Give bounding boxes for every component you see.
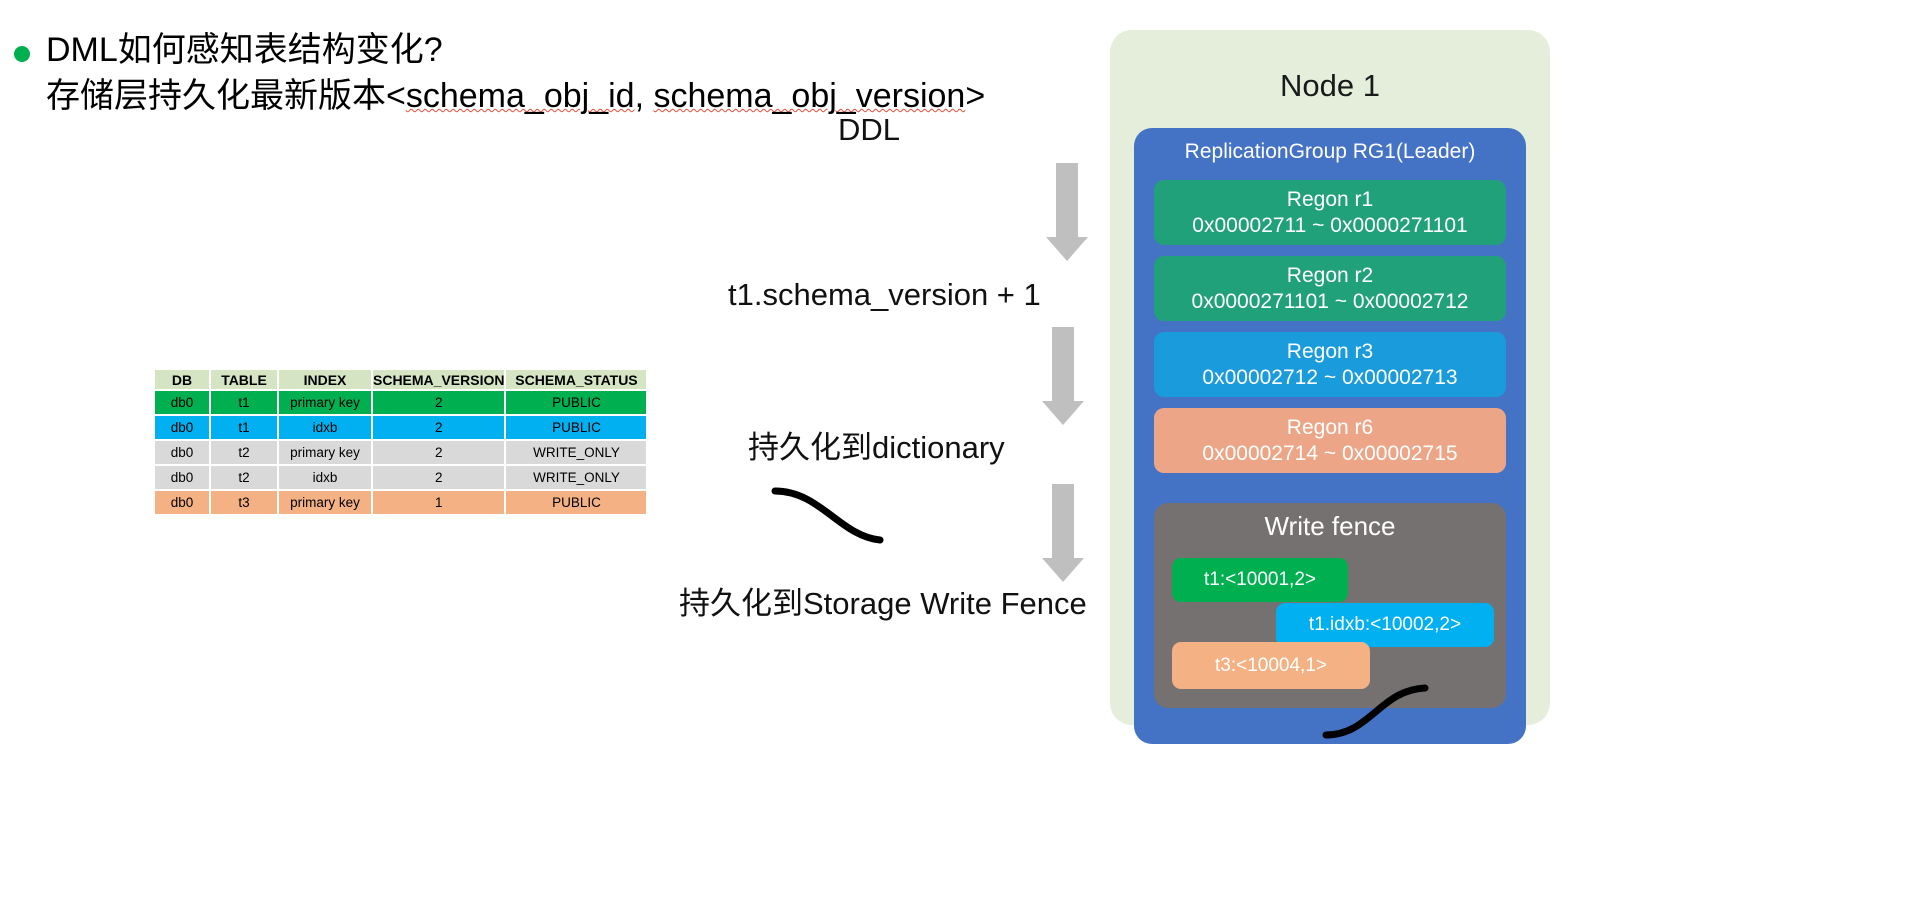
write-fence-entry-t3: t3:<10004,1>	[1172, 642, 1370, 689]
region-box-r2: Regon r2 0x0000271101 ~ 0x00002712	[1154, 256, 1506, 321]
table-row: db0 t1 primary key 2 PUBLIC	[155, 391, 646, 414]
cell-schema-version: 1	[373, 491, 504, 514]
region-range: 0x00002712 ~ 0x00002713	[1154, 365, 1506, 391]
region-name: Regon r6	[1154, 415, 1506, 441]
column-header-index: INDEX	[279, 370, 371, 389]
region-box-r3: Regon r3 0x00002712 ~ 0x00002713	[1154, 332, 1506, 397]
write-fence-entry-t1-idxb: t1.idxb:<10002,2>	[1276, 603, 1494, 647]
cell-db: db0	[155, 416, 209, 439]
bullet-line-2-mid: ,	[635, 77, 654, 115]
cell-db: db0	[155, 391, 209, 414]
bullet-dot-icon	[14, 46, 30, 62]
node-title: Node 1	[1110, 68, 1550, 104]
region-box-r6: Regon r6 0x00002714 ~ 0x00002715	[1154, 408, 1506, 473]
bullet-text: DML如何感知表结构变化? 存储层持久化最新版本<schema_obj_id, …	[46, 28, 985, 120]
column-header-table: TABLE	[211, 370, 277, 389]
flow-arrow-3	[1033, 484, 1093, 582]
cell-schema-status: PUBLIC	[506, 416, 646, 439]
write-fence-entry-t1: t1:<10001,2>	[1172, 558, 1348, 602]
region-name: Regon r3	[1154, 339, 1506, 365]
write-fence-box: Write fence t1:<10001,2> t1.idxb:<10002,…	[1154, 503, 1506, 708]
region-name: Regon r2	[1154, 263, 1506, 289]
bullet-line-2-prefix: 存储层持久化最新版本<	[46, 77, 406, 115]
region-range: 0x00002714 ~ 0x00002715	[1154, 441, 1506, 467]
cell-db: db0	[155, 491, 209, 514]
bullet-row: DML如何感知表结构变化? 存储层持久化最新版本<schema_obj_id, …	[14, 28, 1084, 120]
region-range: 0x00002711 ~ 0x0000271101	[1154, 213, 1506, 239]
cell-schema-status: PUBLIC	[506, 391, 646, 414]
region-box-r1: Regon r1 0x00002711 ~ 0x0000271101	[1154, 180, 1506, 245]
region-name: Regon r1	[1154, 187, 1506, 213]
column-header-schema-version: SCHEMA_VERSION	[373, 370, 504, 389]
spellcheck-term-schema-obj-version: schema_obj_version	[653, 77, 965, 115]
cell-db: db0	[155, 441, 209, 464]
spellcheck-term-schema-obj-id: schema_obj_id	[406, 77, 635, 115]
node-panel: Node 1 ReplicationGroup RG1(Leader) Rego…	[1110, 30, 1550, 725]
flow-label-ddl: DDL	[838, 112, 900, 148]
table-row: db0 t2 primary key 2 WRITE_ONLY	[155, 441, 646, 464]
replication-group-box: ReplicationGroup RG1(Leader) Regon r1 0x…	[1134, 128, 1526, 744]
write-fence-title: Write fence	[1154, 511, 1506, 542]
cell-schema-version: 2	[373, 416, 504, 439]
cell-index: primary key	[279, 441, 371, 464]
cell-db: db0	[155, 466, 209, 489]
column-header-schema-status: SCHEMA_STATUS	[506, 370, 646, 389]
table-header-row: DB TABLE INDEX SCHEMA_VERSION SCHEMA_STA…	[155, 370, 646, 389]
cell-schema-version: 2	[373, 391, 504, 414]
region-range: 0x0000271101 ~ 0x00002712	[1154, 289, 1506, 315]
cell-index: idxb	[279, 416, 371, 439]
cell-table: t3	[211, 491, 277, 514]
cell-table: t1	[211, 391, 277, 414]
cell-index: primary key	[279, 391, 371, 414]
flow-arrow-2	[1033, 327, 1093, 425]
table-row: db0 t1 idxb 2 PUBLIC	[155, 416, 646, 439]
bullet-block: DML如何感知表结构变化? 存储层持久化最新版本<schema_obj_id, …	[14, 28, 1084, 120]
replication-group-title: ReplicationGroup RG1(Leader)	[1134, 140, 1526, 164]
connector-table-to-dictionary	[775, 491, 880, 540]
cell-schema-version: 2	[373, 441, 504, 464]
cell-schema-status: PUBLIC	[506, 491, 646, 514]
table-row: db0 t3 primary key 1 PUBLIC	[155, 491, 646, 514]
cell-index: primary key	[279, 491, 371, 514]
column-header-db: DB	[155, 370, 209, 389]
table-row: db0 t2 idxb 2 WRITE_ONLY	[155, 466, 646, 489]
flow-label-persist-dictionary: 持久化到dictionary	[748, 422, 1005, 467]
cell-table: t2	[211, 441, 277, 464]
flow-label-schema-version-increment: t1.schema_version + 1	[728, 277, 1041, 313]
bullet-line-2-suffix: >	[965, 77, 985, 115]
cell-schema-version: 2	[373, 466, 504, 489]
cell-table: t2	[211, 466, 277, 489]
flow-arrow-1	[1037, 163, 1097, 261]
bullet-line-1: DML如何感知表结构变化?	[46, 28, 985, 74]
flow-label-persist-storage-write-fence: 持久化到Storage Write Fence	[679, 578, 1087, 623]
cell-table: t1	[211, 416, 277, 439]
cell-schema-status: WRITE_ONLY	[506, 466, 646, 489]
cell-schema-status: WRITE_ONLY	[506, 441, 646, 464]
cell-index: idxb	[279, 466, 371, 489]
dictionary-table: DB TABLE INDEX SCHEMA_VERSION SCHEMA_STA…	[153, 368, 648, 516]
